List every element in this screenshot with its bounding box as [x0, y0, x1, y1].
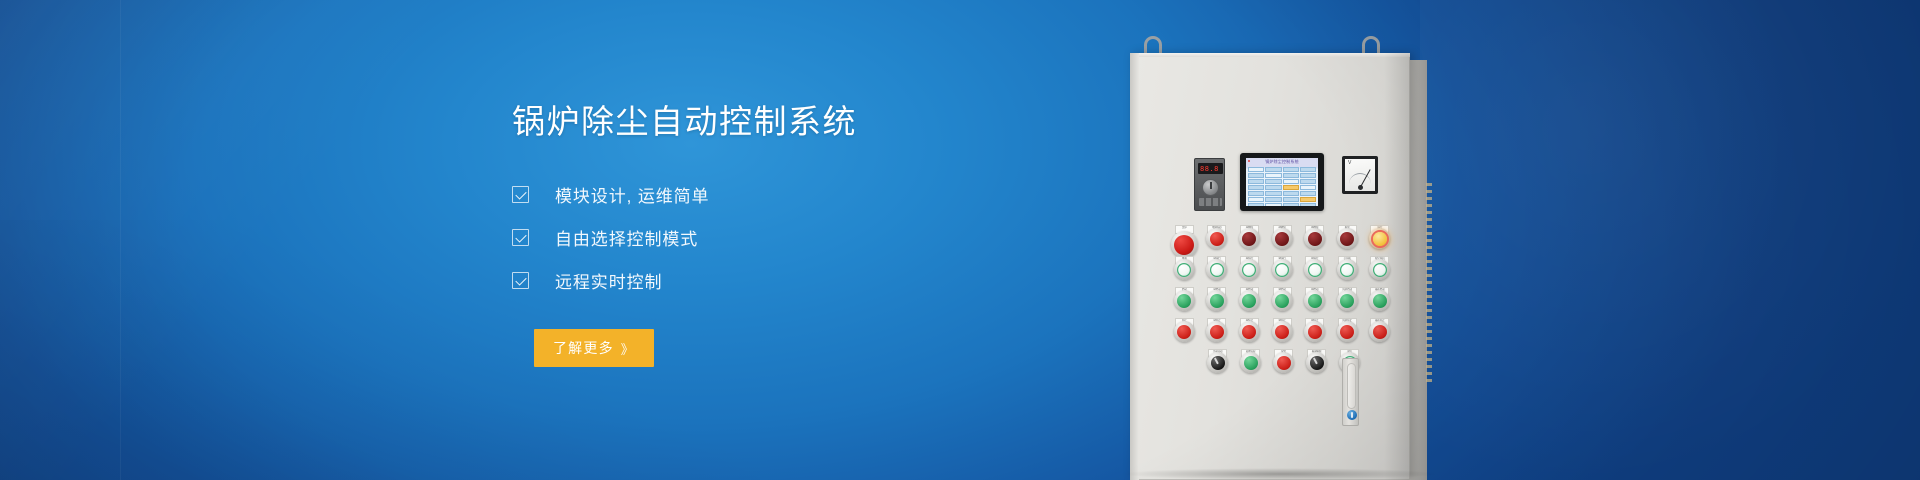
banner-vignette	[0, 0, 1920, 480]
hero-banner: 锅炉除尘自动控制系统 模块设计, 运维简单 自由选择控制模式 远程实时控制 了解…	[0, 0, 1920, 480]
